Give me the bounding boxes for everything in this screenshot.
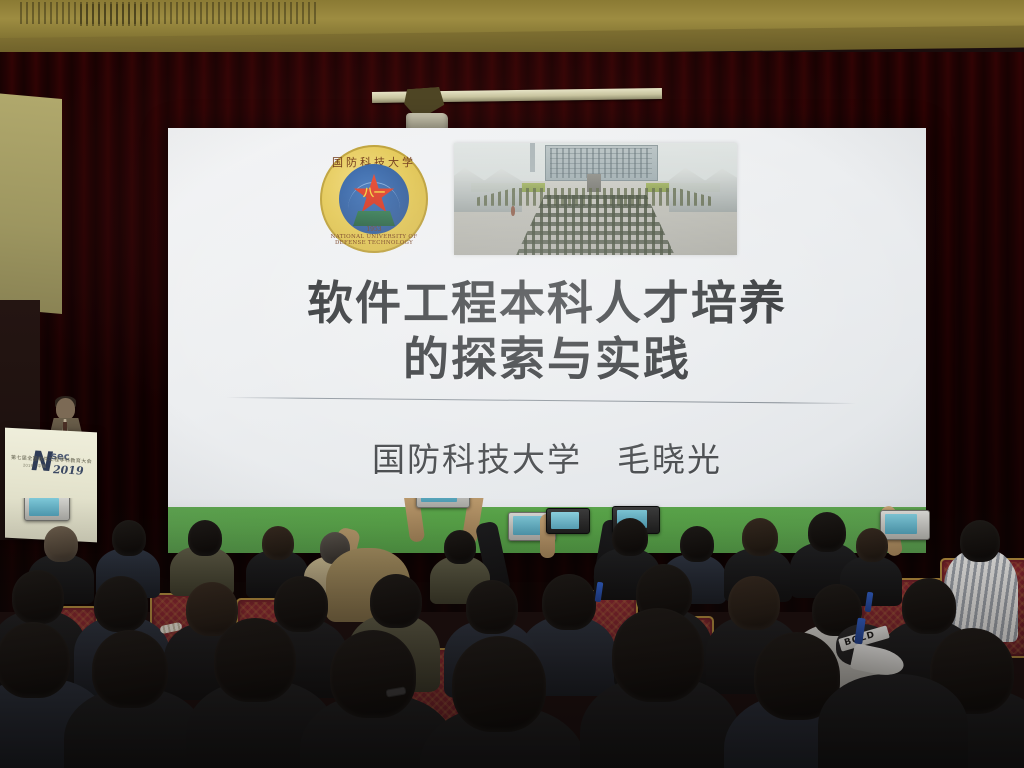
ceiling-vent-grille-secondary [80, 4, 150, 26]
attendee-head [960, 520, 1000, 562]
attendee-head [444, 530, 476, 564]
attendee-head [0, 622, 70, 698]
attendee-head [112, 520, 146, 556]
compact-camera[interactable] [416, 498, 470, 508]
conference-photo-scene: 国防科技大学 NATIONAL UNIVERSITY OF DEFENSE TE… [0, 0, 1024, 768]
emblem-ring-text-bottom: NATIONAL UNIVERSITY OF DEFENSE TECHNOLOG… [320, 234, 428, 246]
phone-screen [29, 498, 59, 516]
attendee-head [92, 630, 168, 708]
photo-standing-person [511, 206, 516, 216]
attendee-head [214, 618, 296, 702]
attendee-head [728, 576, 780, 630]
attendee-head [680, 526, 714, 562]
emblem-founding-year: 1953 [320, 226, 428, 233]
attendee-head [262, 526, 294, 560]
camera-screen [421, 498, 457, 502]
campus-parade-photo [454, 143, 737, 255]
camera-screen [885, 514, 917, 534]
smartphone[interactable] [24, 498, 70, 521]
baseball-cap: BOLD [836, 624, 906, 672]
ceiling-vent-grille [20, 2, 320, 24]
attendee-head [808, 512, 846, 552]
photo-antenna-tower [530, 143, 534, 172]
photo-main-building [545, 145, 658, 181]
slide-title-line-1: 软件工程本科人才培养 [168, 280, 926, 326]
slide-title-line-2: 的探索与实践 [168, 336, 926, 382]
attendee-head [542, 574, 596, 630]
attendee-head [44, 526, 78, 562]
attendee-head [370, 574, 422, 628]
emblem-base-shape-icon [353, 211, 395, 226]
attendee-head [856, 528, 888, 562]
emblem-star-glyph: 八一 [363, 184, 385, 200]
nudt-emblem: 国防科技大学 NATIONAL UNIVERSITY OF DEFENSE TE… [320, 145, 428, 253]
audience-seating: BOLD [0, 498, 1024, 768]
attendee-head [902, 578, 956, 634]
emblem-inner-disc: 八一 [339, 164, 409, 234]
smartphone[interactable] [546, 508, 590, 534]
attendee-head [94, 576, 148, 632]
side-screen-panel [0, 93, 62, 314]
phone-screen [551, 512, 579, 529]
attendee-head [274, 576, 328, 632]
attendee-head [612, 518, 648, 556]
attendee-head [12, 570, 64, 624]
compact-camera[interactable] [880, 510, 930, 540]
slide-divider-rule [226, 397, 856, 404]
lectern-subtagline: 2019 · 中国 [23, 463, 46, 470]
projection-screen: 国防科技大学 NATIONAL UNIVERSITY OF DEFENSE TE… [168, 128, 926, 553]
capped-attendee-shoulders [818, 674, 968, 768]
attendee-head [742, 518, 778, 556]
attendee-head [466, 580, 518, 634]
presenter-head [56, 398, 75, 420]
nsec-logo-year: 2019 [53, 463, 84, 478]
attendee-head [188, 520, 222, 556]
attendee-head [452, 636, 546, 732]
attendee-head [330, 630, 416, 718]
attendee-head [612, 608, 704, 702]
slide-subtitle: 国防科技大学 毛晓光 [168, 433, 926, 481]
